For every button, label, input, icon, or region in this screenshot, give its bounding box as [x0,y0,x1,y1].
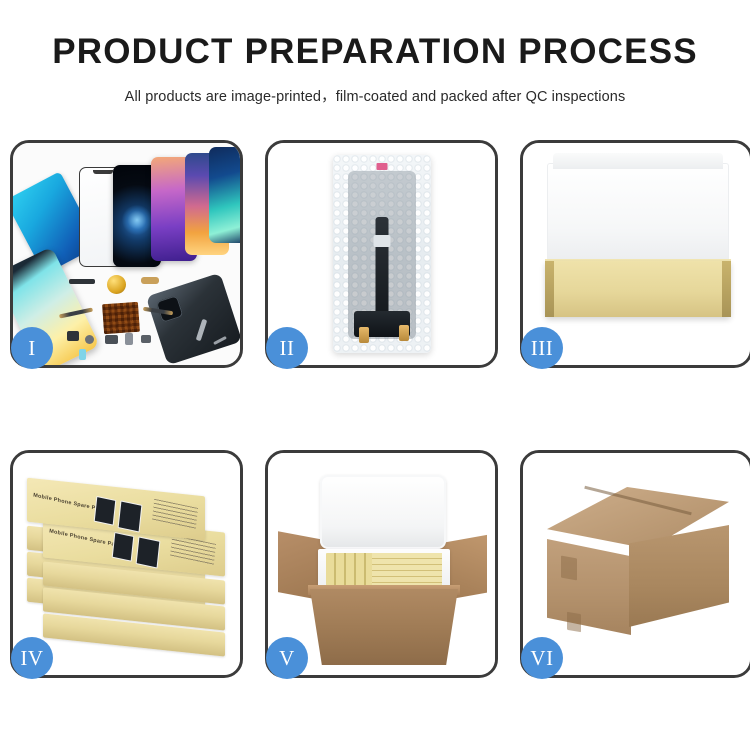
carton-front-face [547,539,631,635]
process-card-5[interactable]: V [265,450,498,678]
small-part-d [125,333,133,345]
image-sealed-shipping-carton [523,453,750,675]
step-badge-5: V [266,637,308,679]
step-badge-1: I [11,327,53,369]
box-edge-left [545,261,554,317]
gold-part-icon [107,275,126,294]
retail-box-screen-image-2a [112,532,135,562]
box-stack: Mobile Phone Spare Parts Mobile Phone Sp… [27,479,233,659]
small-part-b [85,335,94,344]
retail-box-screen-image-1a [94,496,117,526]
phone-back-housing [146,273,240,365]
small-part-bar [69,279,95,284]
image-bubble-wrapped-lcd [268,143,495,365]
step-badge-6: VI [521,637,563,679]
phone-notch [93,170,113,174]
image-phone-screens-and-spare-parts [13,143,240,365]
box-edge-right [722,261,731,317]
small-part-c [105,335,118,344]
retail-box-spec-lines-1 [152,499,198,530]
process-card-2[interactable]: II [265,140,498,368]
retail-box-spec-lines-2 [170,535,216,566]
retail-box-label-2: Mobile Phone Spare Parts [49,528,123,549]
gold-contact-left [359,327,369,343]
kraft-box-base [545,261,731,317]
step-badge-4: IV [11,637,53,679]
carton-body [310,589,458,665]
step-badge-2: II [266,327,308,369]
pink-qc-label [376,163,387,170]
bubble-wrap-bag [333,155,431,353]
connector-grid-part [102,302,140,334]
process-card-6[interactable]: VI [520,450,750,678]
gold-contact-right [399,325,409,341]
box-inner-lid [547,163,729,271]
image-open-box-with-foam [523,143,750,365]
carton-tape-upper [561,556,577,581]
process-card-1[interactable]: I [10,140,243,368]
foam-box-lid [320,475,446,549]
retail-box-screen-image-2b [136,536,161,568]
page-header: PRODUCT PREPARATION PROCESS All products… [0,0,750,106]
process-step-grid: I II III [10,140,740,678]
image-carton-with-foam-insert [268,453,495,675]
step-badge-3: III [521,327,563,369]
page-title: PRODUCT PREPARATION PROCESS [0,34,750,69]
process-card-4[interactable]: Mobile Phone Spare Parts Mobile Phone Sp… [10,450,243,678]
carton-tape-lower [567,612,581,632]
retail-box-screen-image-1b [118,500,143,532]
phone-screen-teal [209,147,240,243]
page-subtitle: All products are image-printed，film-coat… [0,85,750,106]
lcd-connector [373,235,390,247]
process-card-3[interactable]: III [520,140,750,368]
small-part-gold [141,277,159,284]
small-part-e [141,335,151,343]
image-stacked-retail-boxes: Mobile Phone Spare Parts Mobile Phone Sp… [13,453,240,675]
small-part-f [79,349,86,360]
small-part-a [67,331,79,341]
